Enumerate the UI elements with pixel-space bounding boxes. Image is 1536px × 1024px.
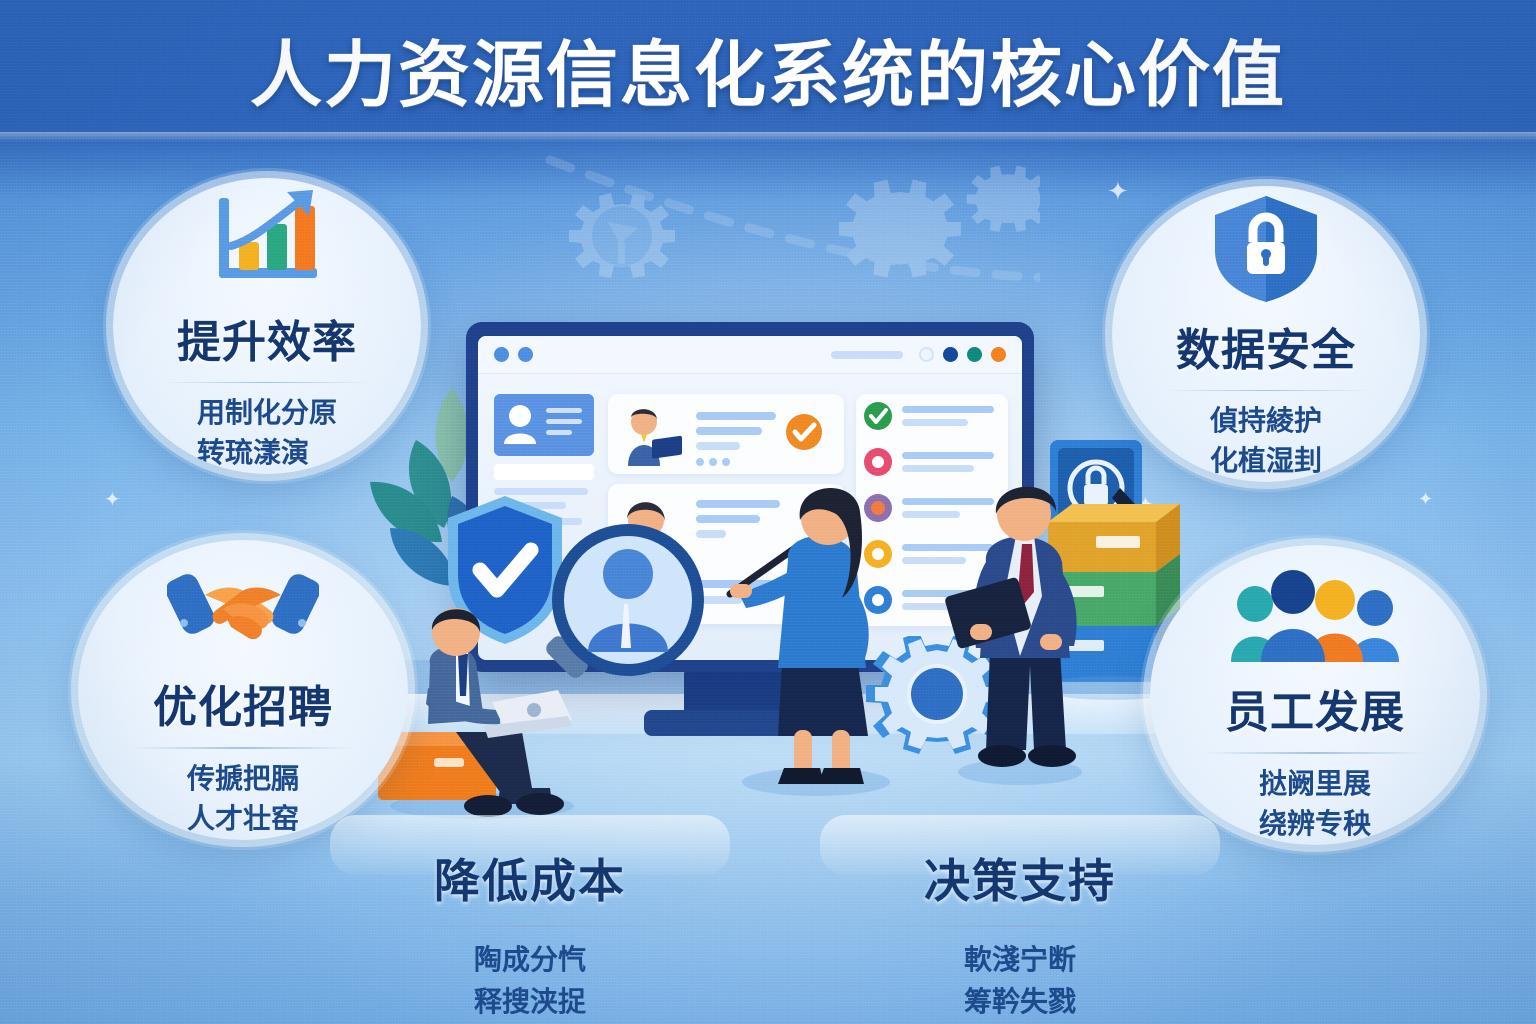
background-noise-texture bbox=[0, 0, 1536, 1024]
infographic-canvas: ✦ ✦ ✦ ✦ bbox=[0, 0, 1536, 1024]
